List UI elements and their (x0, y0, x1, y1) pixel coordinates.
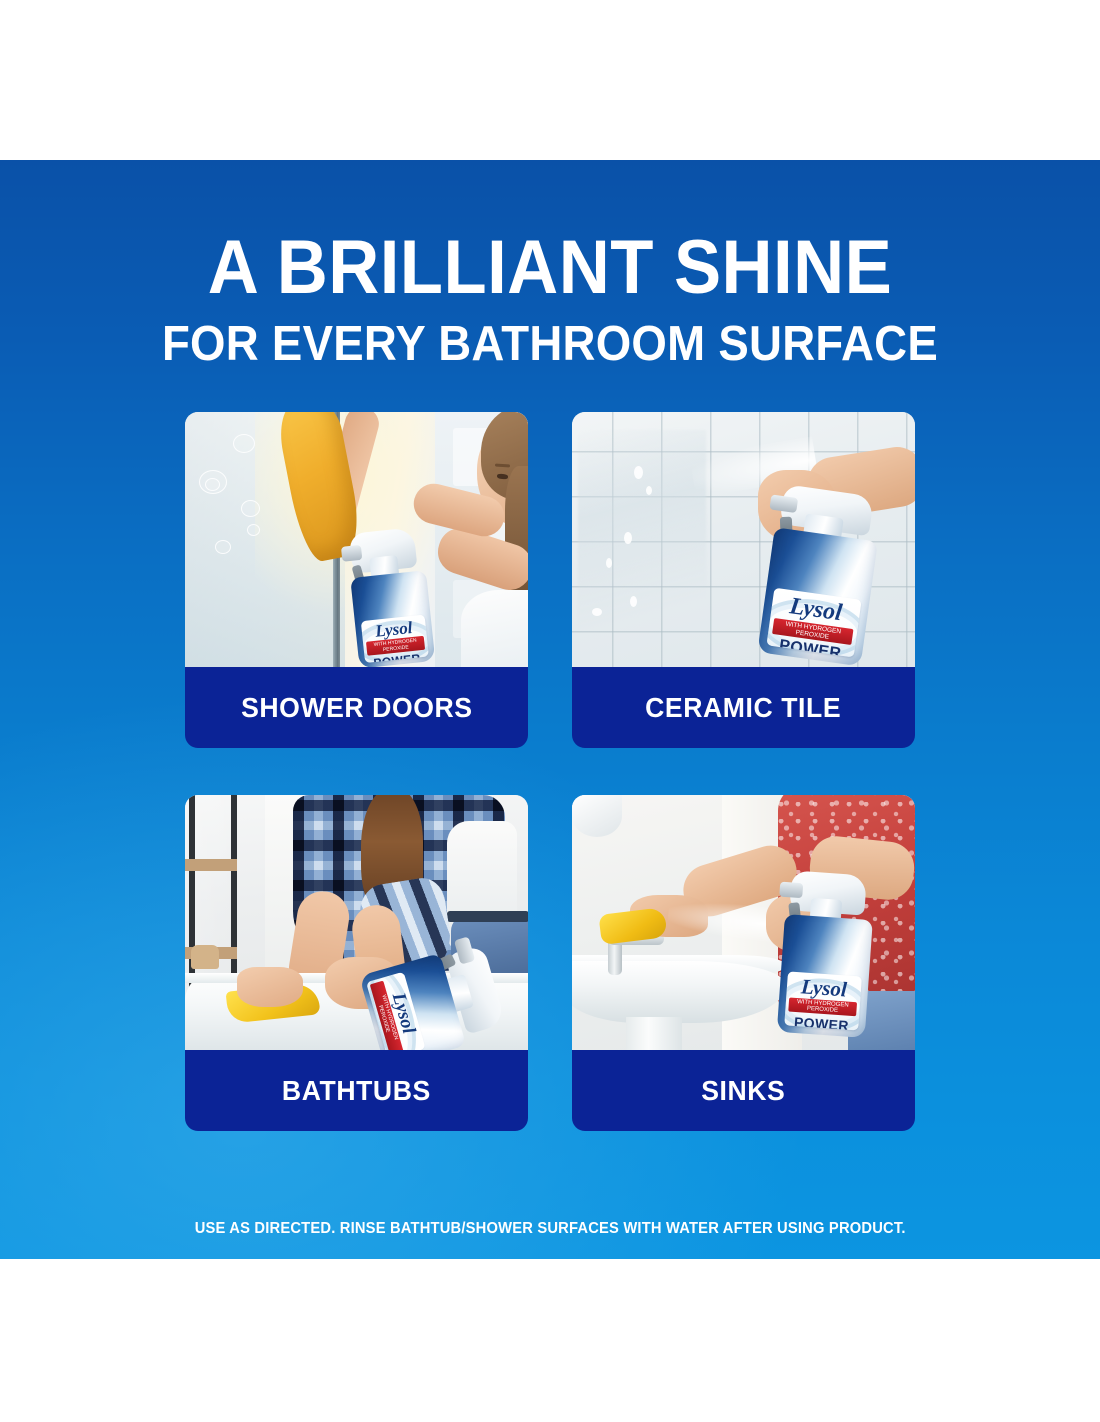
shelf-rail-left (189, 795, 195, 1003)
card-label-sinks: SINKS (701, 1075, 785, 1107)
water-droplet (624, 532, 632, 544)
headline-secondary: FOR EVERY BATHROOM SURFACE (39, 320, 1062, 369)
feature-card-bathtubs[interactable]: Lysol WITH HYDROGEN PEROXIDE POWER BATHR… (185, 795, 528, 1131)
white-pedestal-sink (572, 961, 786, 1023)
card-label-bar-sinks: SINKS (572, 1050, 915, 1131)
foam-bubble (241, 500, 260, 517)
disclaimer-text: USE AS DIRECTED. RINSE BATHTUB/SHOWER SU… (194, 1220, 905, 1238)
card-label-bathtubs: BATHTUBS (282, 1075, 431, 1107)
water-droplet (606, 558, 612, 568)
bottle-label: Lysol WITH HYDROGEN PEROXIDE POWER BATHR… (784, 971, 862, 1030)
water-droplet (646, 486, 652, 495)
headline-primary: A BRILLIANT SHINE (39, 230, 1062, 306)
product-name: POWER (794, 1015, 850, 1031)
round-mirror (572, 795, 622, 837)
lysol-spray-bottle: Lysol WITH HYDROGEN PEROXIDE POWER BATHR… (757, 494, 882, 667)
shelf-rail-right (231, 795, 237, 1003)
photo-ceramic-tile: Lysol WITH HYDROGEN PEROXIDE POWER BATHR… (572, 412, 915, 667)
bottle-label: Lysol WITH HYDROGEN PEROXIDE POWER BATHR… (361, 614, 429, 662)
card-label-bar-ceramic-tile: CERAMIC TILE (572, 667, 915, 748)
water-droplet (630, 596, 637, 607)
woman-shirt (461, 590, 528, 667)
bottle-body: Lysol WITH HYDROGEN PEROXIDE POWER BATHR… (350, 570, 435, 667)
photo-sinks: Lysol WITH HYDROGEN PEROXIDE POWER BATHR… (572, 795, 915, 1050)
brand-name: Lysol (800, 976, 847, 1000)
headline-block: A BRILLIANT SHINE FOR EVERY BATHROOM SUR… (0, 230, 1100, 369)
foam-bubble (205, 478, 220, 491)
water-droplet (634, 466, 643, 479)
shelf-plank-upper (185, 859, 237, 871)
wooden-brush (191, 945, 219, 969)
hand-wiping (237, 967, 303, 1007)
photo-bathtubs: Lysol WITH HYDROGEN PEROXIDE POWER BATHR… (185, 795, 528, 1050)
bottle-label: Lysol WITH HYDROGEN PEROXIDE POWER BATHR… (767, 588, 862, 658)
bottle-body: Lysol WITH HYDROGEN PEROXIDE POWER BATHR… (757, 527, 878, 666)
brand-name: Lysol (374, 619, 413, 640)
card-label-shower-doors: SHOWER DOORS (241, 692, 472, 724)
feature-card-shower-doors[interactable]: Lysol WITH HYDROGEN PEROXIDE POWER BATHR… (185, 412, 528, 748)
feature-card-ceramic-tile[interactable]: Lysol WITH HYDROGEN PEROXIDE POWER BATHR… (572, 412, 915, 748)
card-label-bar-bathtubs: BATHTUBS (185, 1050, 528, 1131)
foam-bubble (215, 540, 231, 554)
bottle-nozzle (341, 545, 362, 562)
promo-banner: A BRILLIANT SHINE FOR EVERY BATHROOM SUR… (0, 160, 1100, 1259)
card-label-ceramic-tile: CERAMIC TILE (646, 692, 842, 724)
woman-belt (447, 911, 528, 922)
bottle-body: Lysol WITH HYDROGEN PEROXIDE POWER BATHR… (777, 914, 873, 1038)
feature-card-sinks[interactable]: Lysol WITH HYDROGEN PEROXIDE POWER BATHR… (572, 795, 915, 1131)
card-label-bar-shower-doors: SHOWER DOORS (185, 667, 528, 748)
water-droplet (592, 608, 602, 616)
lysol-spray-bottle: Lysol WITH HYDROGEN PEROXIDE POWER BATHR… (777, 880, 875, 1038)
foam-bubble (233, 434, 255, 453)
foam-bubble (247, 524, 260, 536)
sink-pedestal (626, 1017, 682, 1050)
bottle-nozzle (779, 882, 803, 899)
photo-shower-doors: Lysol WITH HYDROGEN PEROXIDE POWER BATHR… (185, 412, 528, 667)
lysol-spray-bottle: Lysol WITH HYDROGEN PEROXIDE POWER BATHR… (347, 536, 436, 667)
footer-disclaimer: USE AS DIRECTED. RINSE BATHTUB/SHOWER SU… (0, 1220, 1100, 1238)
tile-water-streak (578, 430, 706, 650)
